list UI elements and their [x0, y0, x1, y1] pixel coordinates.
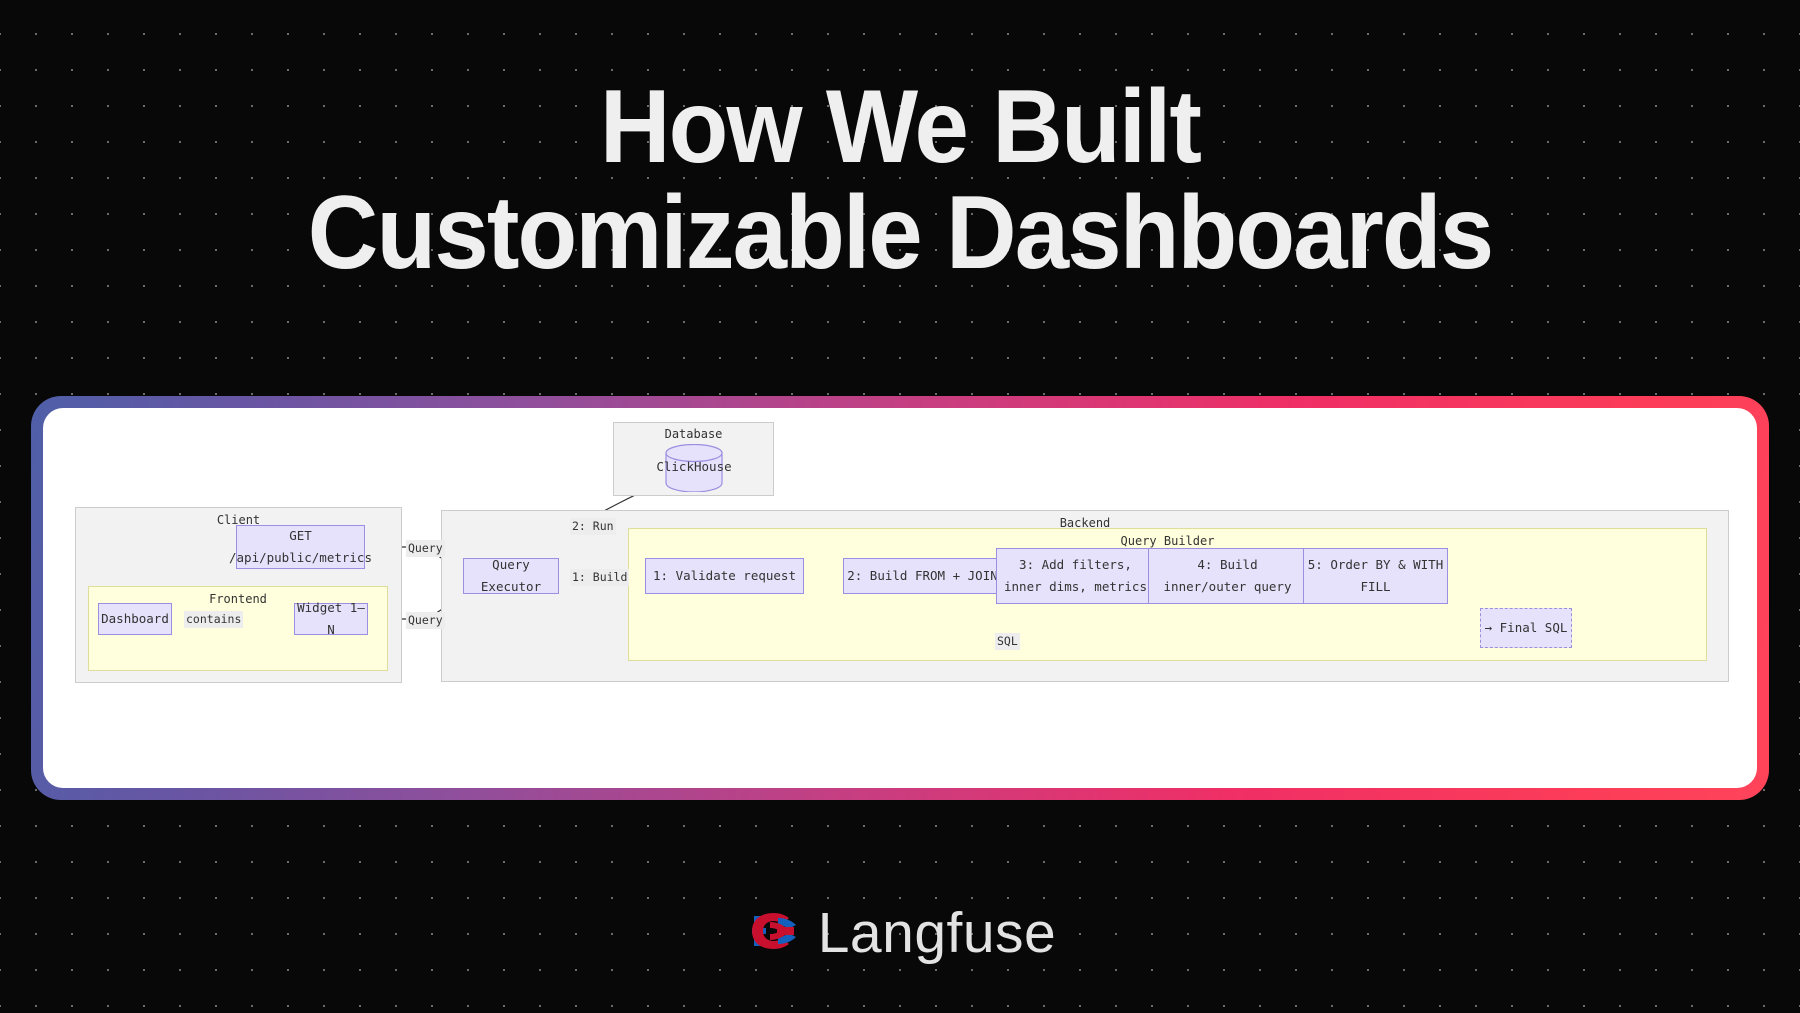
langfuse-mark	[744, 908, 800, 954]
node-step-5[interactable]: 5: Order BY & WITH FILL	[1303, 548, 1448, 604]
node-step-5-line1: 5: Order BY & WITH	[1308, 554, 1443, 576]
page-title: How We Built Customizable Dashboards	[0, 74, 1800, 286]
title-line-1: How We Built	[54, 74, 1746, 180]
node-step-5-line2: FILL	[1360, 576, 1390, 598]
node-query-executor[interactable]: Query Executor	[463, 558, 559, 594]
architecture-diagram: Client GET /api/public/metrics Frontend …	[43, 408, 1757, 788]
edge-label-build: 1: Build	[570, 569, 629, 586]
node-clickhouse-label: ClickHouse	[645, 459, 743, 474]
group-database-label: Database	[613, 427, 774, 441]
node-step-4[interactable]: 4: Build inner/outer query	[1148, 548, 1307, 604]
node-query-executor-label: Query Executor	[464, 554, 558, 598]
brand-name: Langfuse	[818, 905, 1057, 962]
node-step-4-line1: 4: Build	[1197, 554, 1257, 576]
edge-label-contains: contains	[184, 611, 243, 628]
edge-label-sql: SQL	[995, 633, 1020, 650]
node-dashboard[interactable]: Dashboard	[98, 603, 172, 635]
edge-label-query-bottom: Query	[406, 612, 445, 629]
node-get-api-line1: GET	[289, 525, 312, 547]
title-line-2: Customizable Dashboards	[54, 180, 1746, 286]
diagram-card-frame: Client GET /api/public/metrics Frontend …	[31, 396, 1769, 800]
node-step-1-label: 1: Validate request	[653, 565, 796, 587]
diagram-card: Client GET /api/public/metrics Frontend …	[43, 408, 1757, 788]
node-step-2[interactable]: 2: Build FROM + JOIN	[843, 558, 1002, 594]
edge-label-query-top: Query	[406, 540, 445, 557]
node-widget-label: Widget 1–N	[295, 597, 367, 641]
node-get-api[interactable]: GET /api/public/metrics	[236, 525, 365, 569]
group-query-builder-label: Query Builder	[628, 534, 1707, 548]
node-step-3[interactable]: 3: Add filters, inner dims, metrics	[996, 548, 1155, 604]
langfuse-logo-icon	[744, 908, 800, 959]
group-backend-label: Backend	[441, 516, 1729, 530]
node-step-2-label: 2: Build FROM + JOIN	[847, 565, 998, 587]
node-step-4-line2: inner/outer query	[1164, 576, 1292, 598]
node-step-1[interactable]: 1: Validate request	[645, 558, 804, 594]
node-final-sql[interactable]: → Final SQL	[1480, 608, 1572, 648]
node-widget[interactable]: Widget 1–N	[294, 603, 368, 635]
footer-brand: Langfuse	[0, 905, 1800, 962]
node-get-api-line2: /api/public/metrics	[229, 547, 372, 569]
edge-label-run: 2: Run	[570, 518, 616, 535]
node-step-3-line2: inner dims, metrics	[1004, 576, 1147, 598]
node-final-sql-label: → Final SQL	[1485, 617, 1568, 639]
node-dashboard-label: Dashboard	[101, 608, 169, 630]
node-step-3-line1: 3: Add filters,	[1019, 554, 1132, 576]
